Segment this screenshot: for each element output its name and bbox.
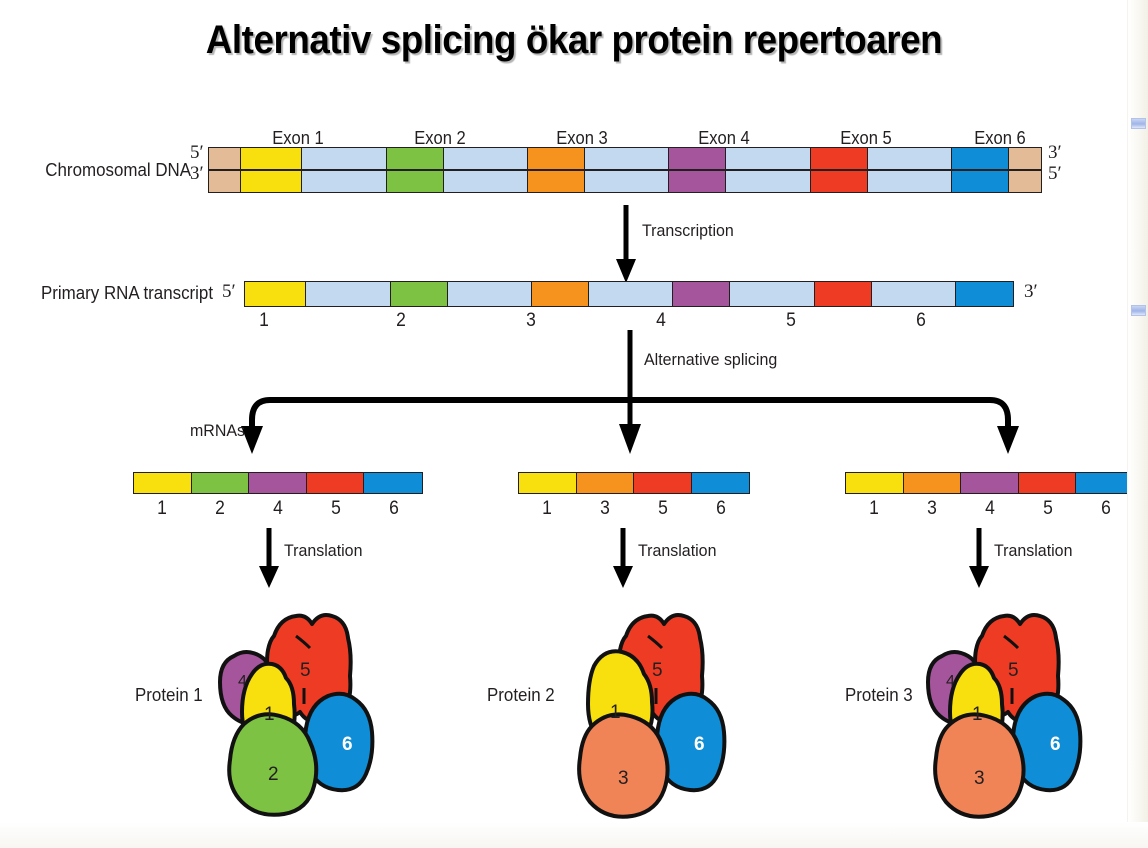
rna-exon-number-4: 4 bbox=[606, 310, 716, 332]
exon-6 bbox=[364, 473, 422, 493]
mrna-3-exon-number-6: 6 bbox=[1052, 498, 1148, 520]
intron-2 bbox=[444, 171, 529, 192]
intron-3 bbox=[585, 148, 670, 169]
exon-2 bbox=[192, 473, 250, 493]
rna-exon-number-2: 2 bbox=[346, 310, 456, 332]
exon-3 bbox=[532, 282, 589, 306]
rna-exon-number-5: 5 bbox=[736, 310, 846, 332]
exon-2 bbox=[387, 171, 444, 192]
exon-label-4: Exon 4 bbox=[641, 128, 807, 149]
exon-label-6: Exon 6 bbox=[917, 128, 1083, 149]
mrna-bar-1 bbox=[133, 472, 423, 494]
subunit-number-6: 6 bbox=[1050, 734, 1061, 755]
exon-3 bbox=[904, 473, 962, 493]
subunit-number-5: 5 bbox=[1008, 660, 1019, 681]
subunit-blob-3 bbox=[935, 714, 1023, 816]
mrna-1-exon-number-6: 6 bbox=[340, 498, 449, 520]
exon-5 bbox=[815, 282, 872, 306]
exon-1 bbox=[519, 473, 577, 493]
exon-5 bbox=[634, 473, 692, 493]
translation-label-3: Translation bbox=[994, 541, 1072, 561]
exon-3 bbox=[577, 473, 635, 493]
transcription-arrow bbox=[614, 205, 654, 285]
intron-1 bbox=[302, 148, 387, 169]
subunit-number-2: 2 bbox=[268, 764, 279, 785]
exon-5 bbox=[307, 473, 365, 493]
exon-4 bbox=[669, 171, 726, 192]
exon-5 bbox=[811, 148, 868, 169]
exon-4 bbox=[961, 473, 1019, 493]
translation-label-1: Translation bbox=[284, 541, 362, 561]
exon-2 bbox=[391, 282, 448, 306]
exon-1 bbox=[241, 171, 302, 192]
exon-label-3: Exon 3 bbox=[499, 128, 665, 149]
primary-rna-bar bbox=[244, 281, 1014, 307]
intron-5 bbox=[868, 171, 953, 192]
utr-right bbox=[1009, 171, 1041, 192]
exon-4 bbox=[669, 148, 726, 169]
exon-5 bbox=[811, 171, 868, 192]
slide-canvas: Alternativ splicing ökar protein reperto… bbox=[0, 0, 1148, 848]
dna-strand-top bbox=[208, 147, 1042, 170]
intron-4 bbox=[730, 282, 815, 306]
intron-1 bbox=[302, 171, 387, 192]
protein-1-label: Protein 1 bbox=[135, 685, 203, 706]
alternative-splicing-branch bbox=[130, 330, 1010, 460]
intron-1 bbox=[306, 282, 391, 306]
exon-label-2: Exon 2 bbox=[357, 128, 523, 149]
intron-3 bbox=[585, 171, 670, 192]
intron-5 bbox=[872, 282, 957, 306]
intron-2 bbox=[448, 282, 533, 306]
protein-1-structure: 4 5 1 2 6 bbox=[200, 608, 440, 820]
exon-6 bbox=[1076, 473, 1134, 493]
exon-3 bbox=[528, 148, 585, 169]
mrna-bar-3 bbox=[845, 472, 1135, 494]
dna-prime-bottom-right: 5′ bbox=[1048, 163, 1062, 185]
protein-3-structure: 4 5 1 3 6 bbox=[908, 608, 1148, 820]
intron-4 bbox=[726, 148, 811, 169]
exon-6 bbox=[692, 473, 750, 493]
chromosomal-dna-label: Chromosomal DNA bbox=[45, 160, 191, 181]
mrna-bar-2 bbox=[518, 472, 750, 494]
exon-label-1: Exon 1 bbox=[215, 128, 381, 149]
subunit-number-3: 3 bbox=[974, 768, 985, 789]
subunit-number-6: 6 bbox=[342, 734, 353, 755]
subunit-number-1: 1 bbox=[264, 704, 275, 725]
rna-exon-number-6: 6 bbox=[866, 310, 976, 332]
subunit-number-5: 5 bbox=[652, 660, 663, 681]
utr-right bbox=[1009, 148, 1041, 169]
alternative-splicing-label: Alternative splicing bbox=[644, 350, 777, 370]
mrnas-label: mRNAs bbox=[190, 421, 245, 441]
page-title: Alternativ splicing ökar protein reperto… bbox=[46, 18, 1102, 63]
intron-2 bbox=[444, 148, 529, 169]
dna-prime-top-left: 5′ bbox=[190, 142, 204, 164]
subunit-number-4: 4 bbox=[946, 673, 955, 690]
exon-1 bbox=[846, 473, 904, 493]
exon-6 bbox=[952, 171, 1009, 192]
utr-left bbox=[209, 148, 241, 169]
dna-strand-bottom bbox=[208, 170, 1042, 193]
strip-marker-bottom[interactable] bbox=[1131, 305, 1146, 316]
rna-exon-number-3: 3 bbox=[476, 310, 586, 332]
subunit-number-1: 1 bbox=[972, 704, 983, 725]
intron-3 bbox=[589, 282, 674, 306]
subunit-number-5: 5 bbox=[300, 660, 311, 681]
primary-rna-label: Primary RNA transcript bbox=[41, 283, 213, 304]
exon-5 bbox=[1019, 473, 1077, 493]
exon-4 bbox=[673, 282, 730, 306]
exon-6 bbox=[952, 148, 1009, 169]
rna-exon-number-1: 1 bbox=[209, 310, 319, 332]
exon-2 bbox=[387, 148, 444, 169]
translation-label-2: Translation bbox=[638, 541, 716, 561]
exon-1 bbox=[134, 473, 192, 493]
side-panel-strip bbox=[1127, 0, 1148, 848]
subunit-number-6: 6 bbox=[694, 734, 705, 755]
dna-prime-bottom-left: 3′ bbox=[190, 163, 204, 185]
bottom-edge-fade bbox=[0, 822, 1148, 848]
subunit-number-1: 1 bbox=[610, 702, 621, 723]
rna-prime-right: 3′ bbox=[1024, 281, 1038, 303]
mrna-2-exon-number-6: 6 bbox=[667, 498, 776, 520]
subunit-number-3: 3 bbox=[618, 768, 629, 789]
exon-3 bbox=[528, 171, 585, 192]
intron-4 bbox=[726, 171, 811, 192]
utr-left bbox=[209, 171, 241, 192]
subunit-number-4: 4 bbox=[238, 673, 247, 690]
protein-2-label: Protein 2 bbox=[487, 685, 555, 706]
exon-1 bbox=[245, 282, 306, 306]
protein-2-structure: 5 1 3 6 bbox=[552, 608, 792, 820]
exon-1 bbox=[241, 148, 302, 169]
protein-3-label: Protein 3 bbox=[845, 685, 913, 706]
transcription-label: Transcription bbox=[642, 221, 734, 241]
strip-marker-top[interactable] bbox=[1131, 118, 1146, 129]
subunit-blob-3 bbox=[579, 714, 667, 816]
exon-4 bbox=[249, 473, 307, 493]
intron-5 bbox=[868, 148, 953, 169]
rna-prime-left: 5′ bbox=[222, 281, 236, 303]
exon-6 bbox=[956, 282, 1013, 306]
